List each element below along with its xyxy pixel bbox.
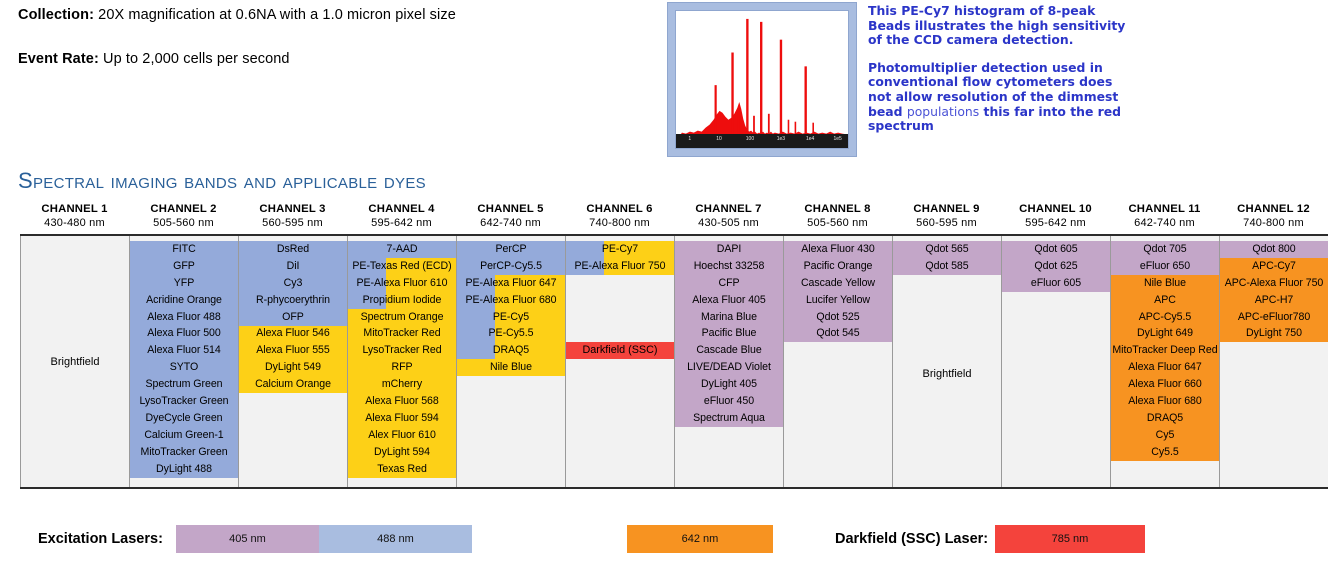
channel-range: 560-595 nm: [892, 217, 1001, 231]
channel-header-11: CHANNEL 11642-740 nm: [1110, 203, 1219, 234]
brightfield-label: Brightfield: [893, 368, 1001, 380]
channel-body-row: BrightfieldFITCGFPYFPAcridine OrangeAlex…: [20, 236, 1328, 489]
axis-tick-1e4: 1e4: [806, 136, 814, 142]
collection-line: Collection: 20X magnification at 0.6NA w…: [18, 6, 658, 24]
dye-item[interactable]: Alexa Fluor 405: [675, 292, 783, 309]
event-rate-line: Event Rate: Up to 2,000 cells per second: [18, 50, 658, 68]
histogram-trace: [676, 11, 848, 136]
dye-item[interactable]: Alexa Fluor 430: [784, 241, 892, 258]
dye-item[interactable]: Pacific Orange: [784, 258, 892, 275]
channel-name: CHANNEL 12: [1237, 203, 1310, 215]
caption-paragraph-2: Photomultiplier detection used in conven…: [868, 61, 1128, 134]
axis-tick-1: 1: [688, 136, 691, 142]
channel-name: CHANNEL 9: [913, 203, 979, 215]
channel-name: CHANNEL 2: [150, 203, 216, 215]
dye-item[interactable]: DsRed: [239, 241, 347, 258]
dye-item[interactable]: Nile Blue: [457, 359, 565, 376]
channel-name: CHANNEL 11: [1128, 203, 1200, 215]
dye-item[interactable]: DRAQ5: [1111, 410, 1219, 427]
dye-item[interactable]: Spectrum Green: [130, 376, 238, 393]
channel-name: CHANNEL 5: [477, 203, 543, 215]
spectral-bands-table: CHANNEL 1430-480 nmCHANNEL 2505-560 nmCH…: [20, 203, 1328, 489]
dye-item[interactable]: Propidium Iodide: [348, 292, 456, 309]
channel-header-5: CHANNEL 5642-740 nm: [456, 203, 565, 234]
channel-range: 740-800 nm: [565, 217, 674, 231]
channel-column-10[interactable]: Qdot 605Qdot 625eFluor 605: [1002, 236, 1111, 487]
channel-name: CHANNEL 7: [695, 203, 761, 215]
event-rate-value: Up to 2,000 cells per second: [103, 51, 290, 67]
histogram-x-axis: 1 10 100 1e3 1e4 1e5: [676, 134, 848, 148]
dye-item[interactable]: DyeCycle Green: [130, 410, 238, 427]
swatch-488nm: 488 nm: [319, 525, 472, 553]
dye-item[interactable]: Qdot 525: [784, 309, 892, 326]
dye-item[interactable]: Alexa Fluor 568: [348, 393, 456, 410]
channel-column-1[interactable]: Brightfield: [20, 236, 130, 487]
dye-item[interactable]: Alexa Fluor 660: [1111, 376, 1219, 393]
dye-item[interactable]: APC-Cy7: [1220, 258, 1328, 275]
dye-item[interactable]: PE-Alexa Fluor 680: [457, 292, 565, 309]
dye-item[interactable]: Qdot 605: [1002, 241, 1110, 258]
dye-item[interactable]: DyLight 405: [675, 376, 783, 393]
channel-column-9[interactable]: Qdot 565Qdot 585Brightfield: [893, 236, 1002, 487]
dye-item[interactable]: Alexa Fluor 488: [130, 309, 238, 326]
dye-item[interactable]: Hoechst 33258: [675, 258, 783, 275]
excitation-lasers-label: Excitation Lasers:: [38, 531, 163, 547]
dye-item[interactable]: APC-Alexa Fluor 750: [1220, 275, 1328, 292]
channel-header-10: CHANNEL 10595-642 nm: [1001, 203, 1110, 234]
dye-item[interactable]: Calcium Orange: [239, 376, 347, 393]
dye-item[interactable]: Qdot 585: [893, 258, 1001, 275]
axis-tick-10: 10: [716, 136, 722, 142]
dye-item[interactable]: Alexa Fluor 680: [1111, 393, 1219, 410]
dye-item[interactable]: Spectrum Orange: [348, 309, 456, 326]
channel-range: 595-642 nm: [1001, 217, 1110, 231]
channel-header-4: CHANNEL 4595-642 nm: [347, 203, 456, 234]
dye-item[interactable]: APC-Cy5.5: [1111, 309, 1219, 326]
dye-item[interactable]: Qdot 800: [1220, 241, 1328, 258]
dye-item[interactable]: PE-Alexa Fluor 750: [566, 258, 674, 275]
dye-list: DAPIHoechst 33258CFPAlexa Fluor 405Marin…: [675, 241, 783, 427]
collection-label: Collection:: [18, 7, 94, 23]
dye-item[interactable]: Lucifer Yellow: [784, 292, 892, 309]
swatch-642nm: 642 nm: [627, 525, 773, 553]
dye-item[interactable]: Nile Blue: [1111, 275, 1219, 292]
channel-range: 505-560 nm: [783, 217, 892, 231]
dye-item[interactable]: eFluor 450: [675, 393, 783, 410]
collection-value: 20X magnification at 0.6NA with a 1.0 mi…: [98, 7, 456, 23]
dye-list: Qdot 705eFluor 650Nile BlueAPCAPC-Cy5.5D…: [1111, 241, 1219, 461]
dye-item[interactable]: PE-Texas Red (ECD): [348, 258, 456, 275]
channel-header-7: CHANNEL 7430-505 nm: [674, 203, 783, 234]
dye-item[interactable]: mCherry: [348, 376, 456, 393]
collection-info-block: Collection: 20X magnification at 0.6NA w…: [18, 6, 658, 94]
channel-header-row: CHANNEL 1430-480 nmCHANNEL 2505-560 nmCH…: [20, 203, 1328, 234]
histogram-plot-area: 1 10 100 1e3 1e4 1e5: [675, 10, 849, 149]
dye-item[interactable]: DyLight 488: [130, 461, 238, 478]
dye-item[interactable]: Alexa Fluor 546: [239, 325, 347, 342]
event-rate-label: Event Rate:: [18, 51, 99, 67]
channel-name: CHANNEL 4: [368, 203, 434, 215]
dye-item[interactable]: DyLight 649: [1111, 325, 1219, 342]
dye-list: PE-Cy7PE-Alexa Fluor 750: [566, 241, 674, 275]
dye-item[interactable]: Texas Red: [348, 461, 456, 478]
dye-item[interactable]: APC: [1111, 292, 1219, 309]
dye-item[interactable]: Alexa Fluor 647: [1111, 359, 1219, 376]
dye-item[interactable]: Cy5: [1111, 427, 1219, 444]
dye-item[interactable]: Alexa Fluor 514: [130, 342, 238, 359]
dye-item[interactable]: Acridine Orange: [130, 292, 238, 309]
darkfield-laser-label: Darkfield (SSC) Laser:: [835, 531, 988, 547]
caption-paragraph-1: This PE-Cy7 histogram of 8-peak Beads il…: [868, 4, 1128, 48]
channel-header-1: CHANNEL 1430-480 nm: [20, 203, 129, 234]
laser-legend: Excitation Lasers: 405 nm 488 nm 642 nm …: [0, 522, 1344, 562]
channel-header-12: CHANNEL 12740-800 nm: [1219, 203, 1328, 234]
dye-item[interactable]: 7-AAD: [348, 241, 456, 258]
axis-tick-100: 100: [746, 136, 754, 142]
dye-item[interactable]: OFP: [239, 309, 347, 326]
channel-name: CHANNEL 1: [41, 203, 107, 215]
channel-column-3[interactable]: DsRedDiICy3R-phycoerythrinOFPAlexa Fluor…: [239, 236, 348, 487]
caption-p2-highlight: populations: [907, 104, 979, 119]
dye-item[interactable]: DiI: [239, 258, 347, 275]
dye-list: Qdot 605Qdot 625eFluor 605: [1002, 241, 1110, 292]
channel-name: CHANNEL 6: [586, 203, 652, 215]
dye-item[interactable]: LIVE/DEAD Violet: [675, 359, 783, 376]
channel-column-4[interactable]: 7-AADPE-Texas Red (ECD)PE-Alexa Fluor 61…: [348, 236, 457, 487]
page-title: Spectral imaging bands and applicable dy…: [18, 168, 426, 194]
channel-column-11[interactable]: Qdot 705eFluor 650Nile BlueAPCAPC-Cy5.5D…: [1111, 236, 1220, 487]
dye-list: DsRedDiICy3R-phycoerythrinOFPAlexa Fluor…: [239, 241, 347, 393]
channel-range: 642-740 nm: [456, 217, 565, 231]
dye-item[interactable]: Calcium Green-1: [130, 427, 238, 444]
swatch-785nm: 785 nm: [995, 525, 1145, 553]
dye-item[interactable]: PE-Alexa Fluor 647: [457, 275, 565, 292]
dye-item[interactable]: RFP: [348, 359, 456, 376]
dye-item[interactable]: Cy3: [239, 275, 347, 292]
channel-column-6[interactable]: PE-Cy7PE-Alexa Fluor 750Darkfield (SSC): [566, 236, 675, 487]
channel-range: 505-560 nm: [129, 217, 238, 231]
channel-column-5[interactable]: PerCPPerCP-Cy5.5PE-Alexa Fluor 647PE-Ale…: [457, 236, 566, 487]
dye-item[interactable]: Marina Blue: [675, 309, 783, 326]
dye-item[interactable]: Qdot 565: [893, 241, 1001, 258]
channel-range: 560-595 nm: [238, 217, 347, 231]
dye-item[interactable]: Alexa Fluor 594: [348, 410, 456, 427]
swatch-405nm: 405 nm: [176, 525, 319, 553]
dye-item[interactable]: eFluor 605: [1002, 275, 1110, 292]
dye-item[interactable]: Cy5.5: [1111, 444, 1219, 461]
dye-list: FITCGFPYFPAcridine OrangeAlexa Fluor 488…: [130, 241, 238, 477]
dye-item[interactable]: Alexa Fluor 555: [239, 342, 347, 359]
dye-list: 7-AADPE-Texas Red (ECD)PE-Alexa Fluor 61…: [348, 241, 456, 477]
dye-item[interactable]: Alexa Fluor 500: [130, 325, 238, 342]
dye-item[interactable]: Spectrum Aqua: [675, 410, 783, 427]
darkfield-ssc-label: Darkfield (SSC): [566, 342, 674, 359]
channel-header-9: CHANNEL 9560-595 nm: [892, 203, 1001, 234]
dye-item[interactable]: PerCP: [457, 241, 565, 258]
dye-item[interactable]: Qdot 545: [784, 325, 892, 342]
channel-range: 430-505 nm: [674, 217, 783, 231]
dye-list: Alexa Fluor 430Pacific OrangeCascade Yel…: [784, 241, 892, 342]
channel-header-3: CHANNEL 3560-595 nm: [238, 203, 347, 234]
dye-item[interactable]: PE-Cy5: [457, 309, 565, 326]
dye-item[interactable]: Qdot 705: [1111, 241, 1219, 258]
dye-item[interactable]: LysoTracker Green: [130, 393, 238, 410]
dye-item[interactable]: MitoTracker Deep Red: [1111, 342, 1219, 359]
dye-list: Qdot 565Qdot 585: [893, 241, 1001, 275]
dye-item[interactable]: GFP: [130, 258, 238, 275]
dye-item[interactable]: Qdot 625: [1002, 258, 1110, 275]
dye-item[interactable]: R-phycoerythrin: [239, 292, 347, 309]
dye-item[interactable]: DAPI: [675, 241, 783, 258]
histogram-panel: 1 10 100 1e3 1e4 1e5: [667, 2, 857, 157]
dye-item[interactable]: MitoTracker Green: [130, 444, 238, 461]
dye-item[interactable]: Cascade Blue: [675, 342, 783, 359]
dye-item[interactable]: YFP: [130, 275, 238, 292]
channel-range: 430-480 nm: [20, 217, 129, 231]
dye-item[interactable]: PE-Cy7: [566, 241, 674, 258]
channel-range: 740-800 nm: [1219, 217, 1328, 231]
channel-range: 595-642 nm: [347, 217, 456, 231]
dye-item[interactable]: CFP: [675, 275, 783, 292]
channel-name: CHANNEL 10: [1019, 203, 1092, 215]
dye-item[interactable]: eFluor 650: [1111, 258, 1219, 275]
dye-item[interactable]: DyLight 549: [239, 359, 347, 376]
dye-item[interactable]: FITC: [130, 241, 238, 258]
dye-item[interactable]: MitoTracker Red: [348, 325, 456, 342]
dye-item[interactable]: APC-H7: [1220, 292, 1328, 309]
channel-column-2[interactable]: FITCGFPYFPAcridine OrangeAlexa Fluor 488…: [130, 236, 239, 487]
channel-column-7[interactable]: DAPIHoechst 33258CFPAlexa Fluor 405Marin…: [675, 236, 784, 487]
channel-name: CHANNEL 8: [804, 203, 870, 215]
brightfield-label: Brightfield: [21, 356, 129, 368]
dye-item[interactable]: LysoTracker Red: [348, 342, 456, 359]
histogram-caption: This PE-Cy7 histogram of 8-peak Beads il…: [868, 4, 1128, 147]
channel-column-12[interactable]: Qdot 800APC-Cy7APC-Alexa Fluor 750APC-H7…: [1220, 236, 1328, 487]
axis-tick-1e5: 1e5: [834, 136, 842, 142]
channel-header-6: CHANNEL 6740-800 nm: [565, 203, 674, 234]
dye-item[interactable]: DRAQ5: [457, 342, 565, 359]
channel-header-2: CHANNEL 2505-560 nm: [129, 203, 238, 234]
dye-item[interactable]: Alex Fluor 610: [348, 427, 456, 444]
channel-header-8: CHANNEL 8505-560 nm: [783, 203, 892, 234]
channel-column-8[interactable]: Alexa Fluor 430Pacific OrangeCascade Yel…: [784, 236, 893, 487]
dye-item[interactable]: SYTO: [130, 359, 238, 376]
axis-tick-1e3: 1e3: [777, 136, 785, 142]
channel-name: CHANNEL 3: [259, 203, 325, 215]
dye-item[interactable]: APC-eFluor780: [1220, 309, 1328, 326]
dye-item[interactable]: Pacific Blue: [675, 325, 783, 342]
dye-item[interactable]: PE-Alexa Fluor 610: [348, 275, 456, 292]
dye-item[interactable]: PE-Cy5.5: [457, 325, 565, 342]
dye-item[interactable]: DyLight 594: [348, 444, 456, 461]
channel-range: 642-740 nm: [1110, 217, 1219, 231]
dye-item[interactable]: DyLight 750: [1220, 325, 1328, 342]
dye-item[interactable]: Cascade Yellow: [784, 275, 892, 292]
dye-item[interactable]: PerCP-Cy5.5: [457, 258, 565, 275]
dye-list: PerCPPerCP-Cy5.5PE-Alexa Fluor 647PE-Ale…: [457, 241, 565, 376]
dye-list: Qdot 800APC-Cy7APC-Alexa Fluor 750APC-H7…: [1220, 241, 1328, 342]
